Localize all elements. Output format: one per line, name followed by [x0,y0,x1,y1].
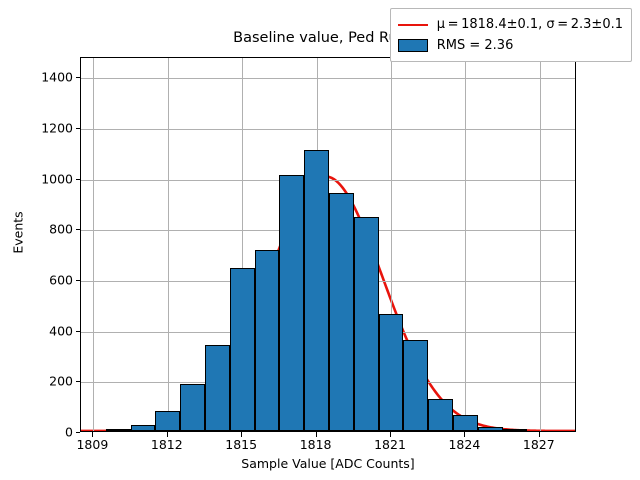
y-axis-tick [76,432,81,433]
y-axis-tick-label: 600 [49,272,73,287]
y-axis-tick-label: 0 [65,425,73,440]
swatch [398,39,428,52]
y-axis-tick-label: 1400 [41,70,73,85]
x-axis-ticks [80,57,576,432]
x-axis-tick [539,432,540,437]
x-axis-tick-label: 1827 [523,437,555,452]
legend-patch-swatch [398,39,428,52]
legend-line-swatch [398,18,428,31]
x-axis-tick-label: 1824 [448,437,480,452]
y-axis-tick-label: 200 [49,374,73,389]
y-axis-tick-labels: 0200400600800100012001400 [0,57,73,432]
x-axis-tick [390,432,391,437]
figure: Baseline value, Ped Run Events Sample Va… [0,0,640,480]
x-axis-tick [241,432,242,437]
x-axis-tick [167,432,168,437]
x-axis-tick-label: 1815 [225,437,257,452]
x-axis-tick-labels: 1809181218151818182118241827 [80,437,576,457]
x-axis-tick [92,432,93,437]
x-axis-tick-label: 1818 [300,437,332,452]
swatch [398,24,428,26]
x-axis-tick-label: 1812 [151,437,183,452]
x-axis-title: Sample Value [ADC Counts] [80,456,576,471]
y-axis-tick-label: 800 [49,222,73,237]
legend-entry: μ = 1818.4±0.1, σ = 2.3±0.1 [398,14,623,35]
y-axis-tick-label: 1200 [41,120,73,135]
legend-entry: RMS = 2.36 [398,35,623,56]
y-axis-tick-label: 1000 [41,171,73,186]
chart-legend: μ = 1818.4±0.1, σ = 2.3±0.1RMS = 2.36 [390,8,632,62]
x-axis-tick-label: 1809 [76,437,108,452]
x-axis-tick [316,432,317,437]
x-axis-tick-label: 1821 [374,437,406,452]
y-axis-tick-label: 400 [49,323,73,338]
x-axis-tick [464,432,465,437]
legend-label: RMS = 2.36 [437,38,514,53]
legend-label: μ = 1818.4±0.1, σ = 2.3±0.1 [437,17,623,32]
